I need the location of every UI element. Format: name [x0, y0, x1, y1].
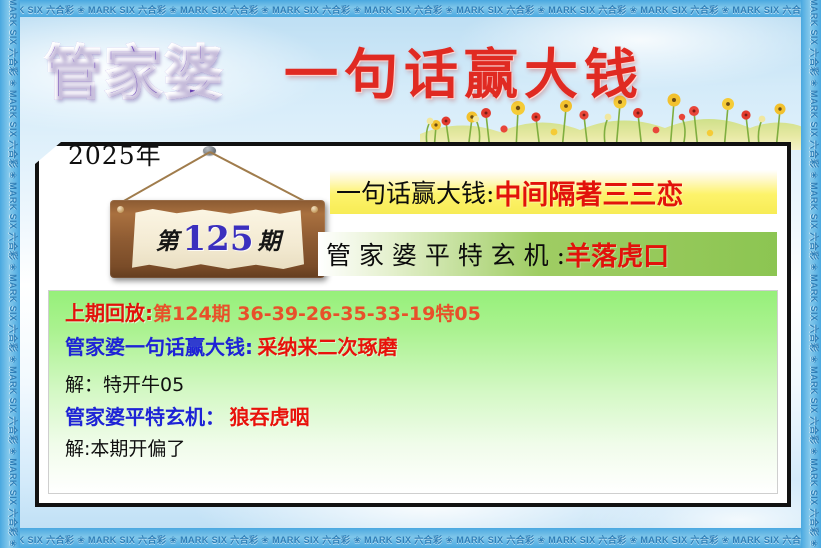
brand-title: 管家婆 — [44, 26, 224, 110]
plaque-paper: 第 125 期 — [132, 209, 304, 269]
issue-number: 125 — [183, 219, 254, 259]
plaque-stud-left — [117, 206, 124, 213]
border-left: MARK SIX 六合彩 ❀ MARK SIX 六合彩 ❀ MARK SIX 六… — [0, 0, 20, 548]
plaque-stud-right — [311, 206, 318, 213]
replay-label: 上期回放: — [65, 301, 153, 325]
border-right: MARK SIX 六合彩 ❀ MARK SIX 六合彩 ❀ MARK SIX 六… — [801, 0, 821, 548]
border-left-text: MARK SIX 六合彩 ❀ MARK SIX 六合彩 ❀ MARK SIX 六… — [7, 0, 20, 548]
panel-line-explain-2: 解:本期开偏了 — [65, 440, 777, 459]
banner-row-slogan: 一句话赢大钱: 中间隔著三三恋 — [330, 170, 777, 214]
panel-slogan-value: 采纳来二次琢磨 — [257, 335, 397, 359]
banner-slogan-value: 中间隔著三三恋 — [494, 173, 683, 212]
plaque-nail — [203, 146, 216, 155]
banner-slogan-label: 一句话赢大钱: — [336, 174, 494, 210]
issue-prefix: 第 — [156, 222, 179, 256]
issue-plaque: 第 125 期 — [110, 200, 325, 278]
content-panel: 上期回放:第124期 36-39-26-35-33-19特05 管家婆一句话赢大… — [48, 290, 778, 494]
replay-value: 第124期 36-39-26-35-33-19特05 — [153, 303, 481, 325]
panel-line-explain-1: 解：特开牛05 — [65, 376, 777, 395]
panel-line-xuanji: 管家婆平特玄机： 狼吞虎咽 — [65, 407, 777, 428]
explain-2-text: 解:本期开偏了 — [65, 438, 185, 460]
panel-xuanji-value: 狼吞虎咽 — [229, 405, 309, 429]
border-right-text: MARK SIX 六合彩 ❀ MARK SIX 六合彩 ❀ MARK SIX 六… — [808, 0, 821, 548]
panel-line-replay: 上期回放:第124期 36-39-26-35-33-19特05 — [65, 303, 777, 324]
border-bottom: MARK SIX 六合彩 ❀ MARK SIX 六合彩 ❀ MARK SIX 六… — [0, 528, 821, 548]
year-label: 2025年 — [68, 136, 162, 172]
border-bottom-text: MARK SIX 六合彩 ❀ MARK SIX 六合彩 ❀ MARK SIX 六… — [0, 533, 821, 546]
border-top: MARK SIX 六合彩 ❀ MARK SIX 六合彩 ❀ MARK SIX 六… — [0, 0, 821, 17]
panel-line-slogan: 管家婆一句话赢大钱: 采纳来二次琢磨 — [65, 337, 777, 358]
banner-xuanji-label: 管 家 婆 平 特 玄 机 : — [326, 236, 565, 272]
border-top-text: MARK SIX 六合彩 ❀ MARK SIX 六合彩 ❀ MARK SIX 六… — [0, 3, 821, 16]
slogan-title: 一句话赢大钱 — [284, 30, 644, 109]
panel-slogan-label: 管家婆一句话赢大钱: — [65, 335, 253, 359]
banner-xuanji-value: 羊落虎口 — [565, 236, 669, 273]
explain-1-text: 解：特开牛05 — [65, 374, 184, 396]
page-root: 管家婆 管家婆 一句话赢大钱 2025年 第 125 期 一句话赢大钱: 中间隔… — [0, 0, 821, 548]
banner-row-xuanji: 管 家 婆 平 特 玄 机 : 羊落虎口 — [318, 232, 777, 276]
issue-suffix: 期 — [257, 222, 280, 256]
panel-xuanji-label: 管家婆平特玄机： — [65, 405, 225, 429]
